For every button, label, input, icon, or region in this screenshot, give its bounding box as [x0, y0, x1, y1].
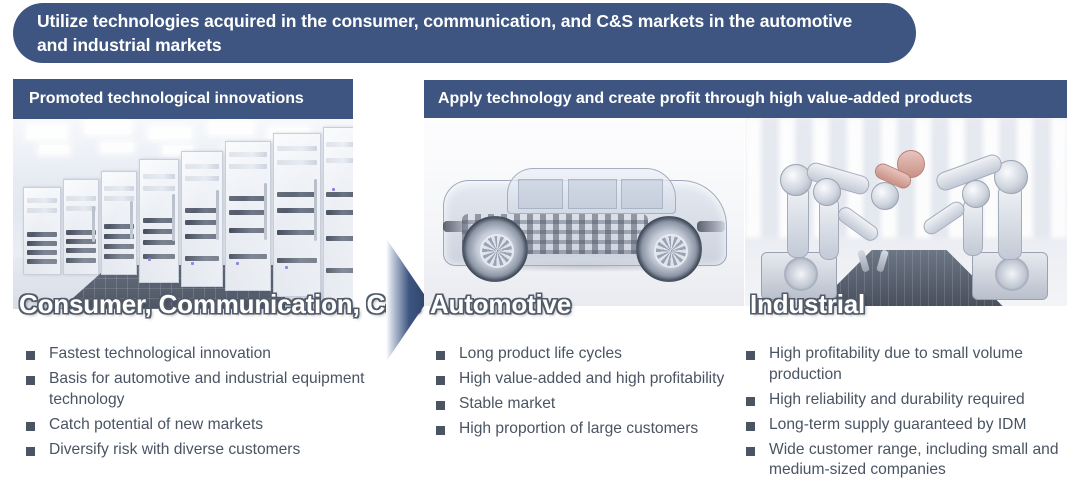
list-item: High proportion of large customers	[436, 419, 736, 440]
ceiling-light	[149, 127, 191, 139]
ceiling-light	[85, 121, 131, 134]
car-window	[518, 179, 563, 209]
panel-header-left: Promoted technological innovations	[13, 79, 353, 119]
list-item: Long product life cycles	[436, 344, 736, 365]
panel-header-right: Apply technology and create profit throu…	[424, 80, 1067, 118]
right-arrow-icon	[384, 238, 428, 362]
server-rack	[323, 127, 353, 303]
list-item: High profitability due to small volume p…	[746, 344, 1076, 386]
car-taillight	[697, 221, 725, 232]
panel-header-right-label: Apply technology and create profit throu…	[438, 90, 972, 108]
category-title-consumer: Consumer, Communication, C&S	[19, 289, 421, 320]
panel-header-left-label: Promoted technological innovations	[29, 90, 304, 108]
bullet-square-icon	[436, 351, 445, 360]
robot-joint	[871, 182, 899, 210]
bullet-square-icon	[746, 422, 755, 431]
list-item: Stable market	[436, 394, 736, 415]
car-wheel-front	[462, 216, 528, 282]
bullet-square-icon	[746, 397, 755, 406]
bullet-list-industrial: High profitability due to small volume p…	[746, 344, 1076, 485]
industrial-robot-arms-photo	[745, 118, 1067, 306]
ceiling-light	[39, 145, 69, 154]
car-cabin	[507, 168, 675, 214]
bullet-square-icon	[26, 447, 35, 456]
list-item: Basis for automotive and industrial equi…	[26, 369, 386, 411]
server-rack	[273, 133, 321, 297]
robot-joint	[813, 178, 841, 206]
ceiling-light	[209, 122, 253, 134]
server-rack	[139, 159, 179, 283]
xray-suv-photo	[424, 118, 744, 306]
bullet-list-consumer: Fastest technological innovation Basis f…	[26, 344, 386, 464]
bullet-square-icon	[746, 447, 755, 456]
server-room-photo	[13, 119, 353, 309]
ceiling-light	[101, 143, 133, 152]
server-rack	[101, 171, 137, 275]
list-item: Long-term supply guaranteed by IDM	[746, 415, 1076, 436]
list-item: Fastest technological innovation	[26, 344, 386, 365]
headline-banner: Utilize technologies acquired in the con…	[13, 3, 916, 63]
bullet-square-icon	[26, 351, 35, 360]
category-title-industrial: Industrial	[750, 289, 865, 320]
list-item: Catch potential of new markets	[26, 415, 386, 436]
list-item: High reliability and durability required	[746, 390, 1076, 411]
server-rack	[63, 179, 99, 275]
headline-text: Utilize technologies acquired in the con…	[37, 9, 882, 57]
robot-joint	[962, 180, 990, 208]
server-rack	[181, 151, 223, 287]
list-item: Diversify risk with diverse customers	[26, 440, 386, 461]
category-title-automotive: Automotive	[430, 289, 571, 320]
list-item: High value-added and high profitability	[436, 369, 736, 390]
bullet-list-automotive: Long product life cycles High value-adde…	[436, 344, 736, 444]
bullet-square-icon	[26, 376, 35, 385]
car-wheel-rear	[636, 216, 702, 282]
list-item: Wide customer range, including small and…	[746, 440, 1076, 482]
robot-gripper	[858, 242, 888, 272]
bullet-square-icon	[746, 351, 755, 360]
bullet-square-icon	[436, 426, 445, 435]
bullet-square-icon	[26, 422, 35, 431]
ceiling-light	[27, 125, 67, 139]
car-window	[621, 179, 663, 209]
bullet-square-icon	[436, 376, 445, 385]
car-window	[568, 179, 617, 209]
bullet-square-icon	[436, 401, 445, 410]
server-rack	[23, 187, 61, 275]
robot-arm-segment	[998, 184, 1022, 260]
server-rack	[225, 141, 271, 291]
